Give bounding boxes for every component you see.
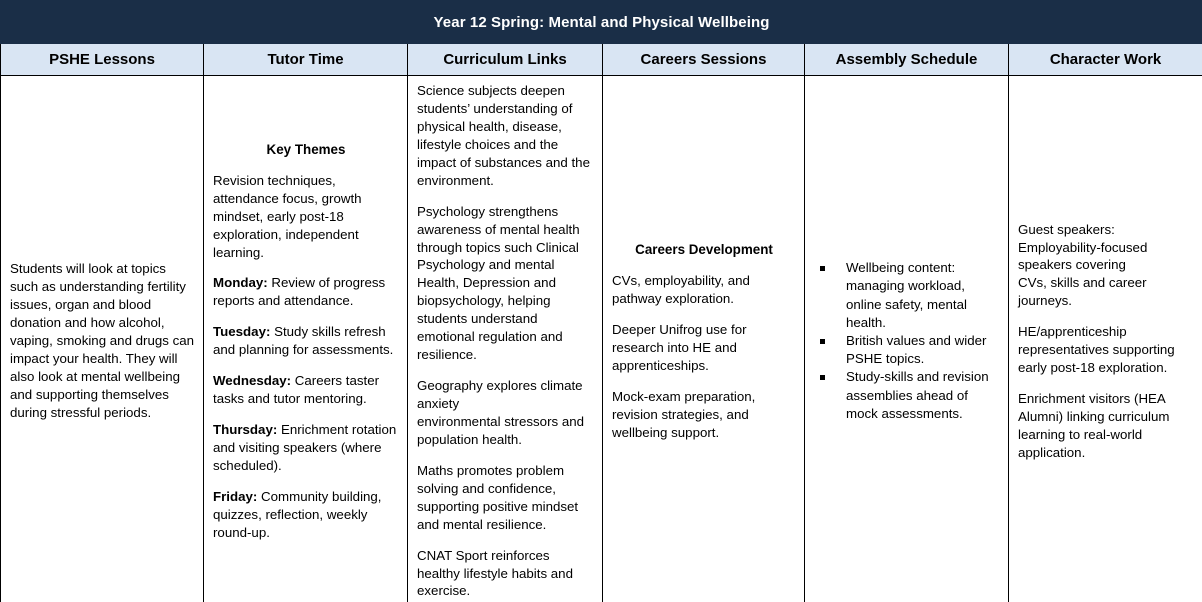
wellbeing-planner-table: Year 12 Spring: Mental and Physical Well… <box>0 0 1202 602</box>
cell-careers-sessions: Careers Development CVs, employability, … <box>603 76 805 602</box>
character-paragraph-enrichment: Enrichment visitors (HEA Alumni) linking… <box>1018 390 1194 462</box>
planner-page: Year 12 Spring: Mental and Physical Well… <box>0 0 1202 602</box>
page-title: Year 12 Spring: Mental and Physical Well… <box>1 1 1202 44</box>
banner-row: Year 12 Spring: Mental and Physical Well… <box>1 1 1202 44</box>
character-paragraph-he-representatives: HE/apprenticeship representatives suppor… <box>1018 323 1194 377</box>
character-paragraph-guest-speakers: Guest speakers: Employability-focused sp… <box>1018 221 1194 311</box>
cell-tutor-time: Key Themes Revision techniques, attendan… <box>204 76 408 602</box>
tutor-day-monday: Monday: Review of progress reports and a… <box>213 274 399 310</box>
day-label-monday: Monday: <box>213 275 268 290</box>
list-item: Wellbeing content: managing workload, on… <box>814 259 1000 332</box>
column-header-curriculum-links: Curriculum Links <box>408 44 603 76</box>
careers-paragraph-2: Deeper Unifrog use for research into HE … <box>612 321 796 375</box>
curriculum-paragraph-cnat-sport: CNAT Sport reinforces healthy lifestyle … <box>417 547 594 601</box>
cell-character-work: Guest speakers: Employability-focused sp… <box>1009 76 1202 602</box>
assembly-bullet-text-2: British values and wider PSHE topics. <box>846 333 986 366</box>
square-bullet-icon <box>820 266 825 271</box>
curriculum-paragraph-maths: Maths promotes problem solving and confi… <box>417 462 594 534</box>
cell-assembly-schedule: Wellbeing content: managing workload, on… <box>805 76 1009 602</box>
careers-subheading: Careers Development <box>612 241 796 259</box>
column-header-careers-sessions: Careers Sessions <box>603 44 805 76</box>
square-bullet-icon <box>820 339 825 344</box>
column-header-character-work: Character Work <box>1009 44 1202 76</box>
tutor-day-thursday: Thursday: Enrichment rotation and visiti… <box>213 421 399 475</box>
column-header-pshe: PSHE Lessons <box>1 44 204 76</box>
day-label-wednesday: Wednesday: <box>213 373 291 388</box>
list-item: British values and wider PSHE topics. <box>814 332 1000 368</box>
assembly-bullet-list: Wellbeing content: managing workload, on… <box>814 259 1000 423</box>
day-label-tuesday: Tuesday: <box>213 324 270 339</box>
careers-paragraph-3: Mock-exam preparation, revision strategi… <box>612 388 796 442</box>
day-label-friday: Friday: <box>213 489 257 504</box>
pshe-paragraph-1: Students will look at topics such as und… <box>10 260 195 421</box>
assembly-bullet-text-3: Study-skills and revision assemblies ahe… <box>846 369 989 420</box>
tutor-key-themes-paragraph: Revision techniques, attendance focus, g… <box>213 172 399 262</box>
list-item: Study-skills and revision assemblies ahe… <box>814 368 1000 423</box>
content-row: Students will look at topics such as und… <box>1 76 1202 602</box>
tutor-day-tuesday: Tuesday: Study skills refresh and planni… <box>213 323 399 359</box>
square-bullet-icon <box>820 375 825 380</box>
curriculum-paragraph-geography: Geography explores climate anxiety envir… <box>417 377 594 449</box>
curriculum-paragraph-psychology: Psychology strengthens awareness of ment… <box>417 203 594 364</box>
curriculum-paragraph-science: Science subjects deepen students’ unders… <box>417 82 594 190</box>
day-label-thursday: Thursday: <box>213 422 277 437</box>
tutor-day-friday: Friday: Community building, quizzes, ref… <box>213 488 399 542</box>
tutor-day-wednesday: Wednesday: Careers taster tasks and tuto… <box>213 372 399 408</box>
cell-curriculum-links: Science subjects deepen students’ unders… <box>408 76 603 602</box>
column-header-tutor-time: Tutor Time <box>204 44 408 76</box>
tutor-subheading: Key Themes <box>213 141 399 159</box>
assembly-bullet-text-1: Wellbeing content: managing workload, on… <box>846 260 967 330</box>
cell-pshe-lessons: Students will look at topics such as und… <box>1 76 204 602</box>
careers-paragraph-1: CVs, employability, and pathway explorat… <box>612 272 796 308</box>
column-header-assembly-schedule: Assembly Schedule <box>805 44 1009 76</box>
column-header-row: PSHE Lessons Tutor Time Curriculum Links… <box>1 44 1202 76</box>
